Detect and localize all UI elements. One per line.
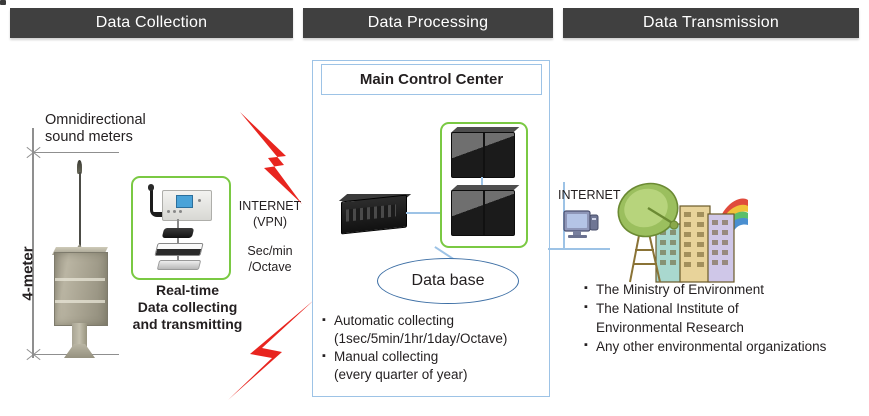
equipment-module-icon [162, 228, 194, 238]
server-icon [451, 190, 515, 236]
list-item: Automatic collecting [322, 312, 542, 330]
recipients-list: The Ministry of Environment The National… [584, 280, 864, 356]
dimension-tick-top [33, 152, 119, 153]
equipment-module-icon [154, 243, 203, 256]
sound-meter-foot [64, 344, 95, 358]
sound-meter-label: Omnidirectional sound meters [45, 112, 225, 146]
list-item: Manual collecting [322, 348, 542, 366]
section-header-label: Data Transmission [643, 14, 779, 32]
data-logger-screen [176, 195, 193, 208]
sound-meter-band [55, 300, 105, 303]
data-logger-port [0, 0, 6, 5]
connector-out-horizontal [548, 248, 610, 250]
list-item-sub: Environmental Research [584, 318, 864, 337]
sound-meter-rod [79, 172, 81, 250]
satellite-dish-icon [612, 178, 748, 286]
equipment-module-icon [157, 260, 201, 270]
sampling-rate-line2: /Octave [232, 259, 308, 275]
sampling-rate-label: Sec/min /Octave [232, 243, 308, 275]
dimension-label: 4-meter [20, 234, 37, 314]
sound-meter-label-line2: sound meters [45, 129, 225, 146]
list-item: The National Institute of [584, 299, 864, 318]
lightning-bolt-icon [240, 112, 316, 204]
data-logger-dot [173, 210, 176, 213]
realtime-caption-line1: Real-time [125, 282, 250, 299]
section-header-data-transmission: Data Transmission [563, 8, 859, 38]
main-control-center-title: Main Control Center [321, 64, 542, 95]
data-logger-dot [167, 210, 170, 213]
connector-rack-to-servers [406, 212, 440, 214]
database-node: Data base [377, 258, 519, 304]
sound-meter-band [55, 278, 105, 281]
database-label: Data base [412, 272, 485, 290]
internet-vpn-line2: (VPN) [232, 214, 308, 230]
section-header-label: Data Processing [368, 14, 488, 32]
server-icon [451, 132, 515, 178]
sound-meter-label-line1: Omnidirectional [45, 112, 225, 129]
list-item-sub: (every quarter of year) [322, 366, 542, 384]
list-item: The Ministry of Environment [584, 280, 864, 299]
list-item: Any other environmental organizations [584, 337, 864, 356]
processing-bullet-list: Automatic collecting (1sec/5min/1hr/1day… [322, 312, 542, 384]
monitor-icon [563, 210, 601, 240]
list-item-sub: (1sec/5min/1hr/1day/Octave) [322, 330, 542, 348]
sound-meter-body [54, 252, 108, 326]
section-header-label: Data Collection [96, 14, 208, 32]
data-logger-dot [179, 210, 182, 213]
diagram-canvas: Data Collection Data Processing Data Tra… [0, 0, 869, 416]
data-logger-dot [198, 199, 201, 202]
sampling-rate-line1: Sec/min [232, 243, 308, 259]
main-control-center-title-label: Main Control Center [360, 71, 503, 88]
lightning-bolt-icon [228, 300, 314, 400]
data-logger-mic-icon [148, 184, 154, 191]
equipment-stack-rod [177, 219, 179, 264]
section-header-data-processing: Data Processing [303, 8, 553, 38]
section-header-data-collection: Data Collection [10, 8, 293, 38]
